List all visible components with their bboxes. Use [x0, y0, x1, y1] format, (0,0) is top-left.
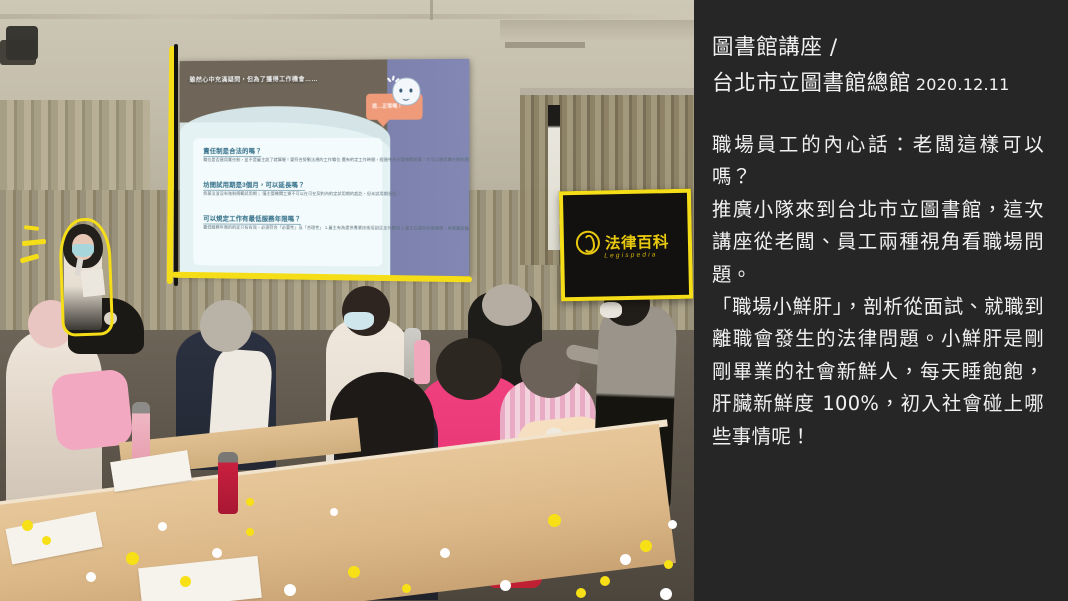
face-mask-standing-right — [600, 302, 622, 318]
confetti-dot — [22, 520, 33, 531]
wall-vent — [505, 42, 585, 48]
body-paragraph-1: 推廣小隊來到台北市立圖書館，這次講座從老闆、員工兩種視角看職場問題。 — [712, 194, 1044, 291]
slide-question-2: 坊間試用期是3個月，可以延長嗎？ — [203, 180, 304, 191]
confetti-dot — [42, 536, 51, 545]
slide-canvas: 雖然心中充滿疑問，但為了獲得工作機會…… 責任制是合法的嗎？ 職位是否適用責任制… — [0, 0, 1068, 601]
body-paragraph-2: 「職場小鮮肝」，剖析從面試、就職到離職會發生的法律問題。小鮮肝是剛剛畢業的社會新… — [712, 291, 1044, 453]
slide-question-1: 責任制是合法的嗎？ — [203, 146, 261, 157]
confetti-dot — [668, 520, 677, 529]
confetti-dot — [402, 584, 411, 593]
confetti-dot — [246, 498, 254, 506]
confetti-dot — [284, 584, 296, 596]
description-panel: 圖書館講座 / 台北市立圖書館總館2020.12.11 職場員工的內心話：老闆這… — [694, 0, 1068, 601]
face-mask-standing — [344, 312, 374, 330]
slide-banner-title: 雖然心中充滿疑問，但為了獲得工作機會…… — [190, 74, 318, 84]
confetti-dot — [212, 548, 222, 558]
screen-frame-edge — [174, 44, 178, 286]
event-date: 2020.12.11 — [916, 75, 1010, 94]
confetti-dot — [500, 580, 511, 591]
confetti-dot — [180, 576, 191, 587]
window-slit — [548, 105, 560, 250]
banner-brand-name: 法律百科 — [605, 230, 669, 253]
confetti-dot — [664, 560, 673, 569]
panel-title-line-1: 圖書館講座 / — [712, 30, 1044, 66]
confetti-dot — [440, 548, 450, 558]
pink-backpack — [50, 368, 134, 452]
confetti-dot — [548, 514, 561, 527]
water-bottle — [218, 452, 238, 514]
confetti-dot — [86, 572, 96, 582]
legispedia-banner: 法律百科 Legispedia — [559, 189, 693, 302]
confetti-dot — [620, 554, 631, 565]
mascot-mouth — [402, 96, 409, 101]
confetti-dot — [640, 540, 652, 552]
slide-question-3: 可以規定工作有最低服務年限嗎？ — [203, 214, 301, 225]
confetti-dot — [330, 508, 338, 516]
mascot-eye-right — [409, 88, 412, 92]
attendee-head-silver — [482, 284, 532, 326]
projector-screen: 雖然心中充滿疑問，但為了獲得工作機會…… 責任制是合法的嗎？ 職位是否適用責任制… — [180, 59, 470, 276]
ceiling-seam-vertical — [430, 0, 433, 20]
confetti-dot — [348, 566, 360, 578]
attendee-head-pink-sweater — [436, 338, 502, 400]
confetti-dot — [158, 522, 167, 531]
panel-body-copy: 職場員工的內心話：老闆這樣可以嗎？ 推廣小隊來到台北市立圖書館，這次講座從老闆、… — [712, 129, 1044, 453]
banner-brand-latin: Legispedia — [604, 251, 658, 259]
mascot-sparkle-icon — [388, 75, 398, 85]
slide-answer-2: 勞基法並沒有強制規範試用期； 僅主管機關工資不可以在可在契約內約定試用期的起訖，… — [203, 191, 400, 198]
mascot-eye-left — [399, 89, 402, 93]
body-heading: 職場員工的內心話：老闆這樣可以嗎？ — [712, 129, 1044, 194]
event-photo: 雖然心中充滿疑問，但為了獲得工作機會…… 責任制是合法的嗎？ 職位是否適用責任制… — [0, 0, 694, 601]
wall-panel-seam — [500, 20, 694, 42]
legispedia-logo-icon — [576, 231, 600, 255]
panel-title-line-2: 台北市立圖書館總館2020.12.11 — [712, 66, 1044, 103]
water-bottle — [414, 340, 430, 384]
attendee-head-gray — [200, 300, 252, 352]
water-bottle — [132, 402, 150, 462]
slide-answer-1: 職位是否適用責任制，並不是雇主說了就算喔！要符合勞動法規的工作職位 還有約定工作… — [203, 157, 469, 164]
yellow-highlight-outline — [58, 217, 114, 337]
confetti-dot — [576, 588, 586, 598]
wall-fixture-secondary — [0, 40, 36, 65]
confetti-dot — [126, 552, 139, 565]
venue-name: 台北市立圖書館總館 — [712, 71, 911, 96]
confetti-dot — [600, 576, 610, 586]
presentation-slide: 雖然心中充滿疑問，但為了獲得工作機會…… 責任制是合法的嗎？ 職位是否適用責任制… — [180, 59, 470, 276]
ceiling-seam — [0, 14, 694, 19]
confetti-dot — [660, 588, 672, 600]
confetti-dot — [246, 528, 254, 536]
mascot-character-icon — [392, 77, 420, 105]
